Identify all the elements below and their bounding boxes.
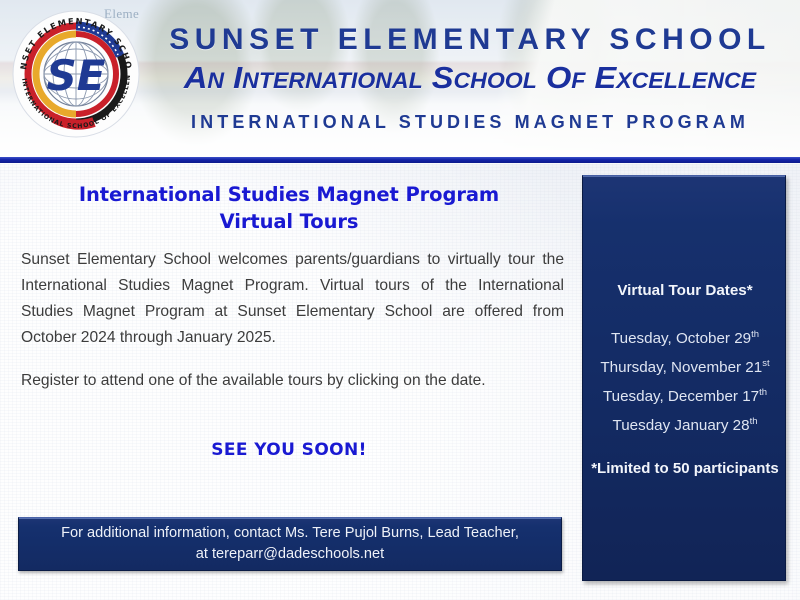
virtual-tour-dates-panel: Virtual Tour Dates* Tuesday, October 29t… <box>582 175 786 581</box>
closing-message: SEE YOU SOON! <box>14 440 564 460</box>
school-name-heading: SUNSET ELEMENTARY SCHOOL <box>140 23 800 57</box>
tour-date-label: Tuesday, December 17 <box>603 388 759 405</box>
page-title-line-1: International Studies Magnet Program <box>14 181 564 208</box>
tour-date-label: Tuesday January 28 <box>613 417 750 434</box>
tour-date-item[interactable]: Tuesday, October 29th <box>583 324 787 353</box>
tour-date-label: Tuesday, October 29 <box>611 330 751 347</box>
virtual-tour-dates-title: Virtual Tour Dates* <box>583 282 787 299</box>
virtual-tour-dates-list: Tuesday, October 29th Thursday, November… <box>583 324 787 440</box>
header-divider-rule <box>0 157 800 163</box>
tour-date-item[interactable]: Tuesday, December 17th <box>583 382 787 411</box>
participant-limit-note: *Limited to 50 participants <box>583 460 787 477</box>
body-copy: Sunset Elementary School welcomes parent… <box>21 247 564 394</box>
tour-date-item[interactable]: Thursday, November 21st <box>583 353 787 382</box>
tour-date-ordinal-suffix: st <box>762 358 769 369</box>
page-title-line-2: Virtual Tours <box>14 208 564 235</box>
body-paragraph-2: Register to attend one of the available … <box>21 368 564 394</box>
tour-date-ordinal-suffix: th <box>750 416 758 427</box>
school-tagline-heading: AN INTERNATIONAL SCHOOL OF EXCELLENCE <box>124 60 800 96</box>
body-paragraph-1: Sunset Elementary School welcomes parent… <box>21 247 564 351</box>
header-banner: Eleme Sunset <box>0 0 800 158</box>
page-title: International Studies Magnet Program Vir… <box>14 181 564 235</box>
contact-line-2[interactable]: at tereparr@dadeschools.net <box>196 546 384 562</box>
program-name-heading: INTERNATIONAL STUDIES MAGNET PROGRAM <box>140 112 800 133</box>
logo-monogram-text: SE <box>47 51 106 100</box>
contact-line-1: For additional information, contact Ms. … <box>61 525 519 541</box>
school-tagline-text: AN INTERNATIONAL SCHOOL OF EXCELLENCE <box>184 60 756 95</box>
contact-info-text: For additional information, contact Ms. … <box>61 523 519 565</box>
contact-info-box: For additional information, contact Ms. … <box>18 517 562 571</box>
tour-date-item[interactable]: Tuesday January 28th <box>583 411 787 440</box>
tour-date-ordinal-suffix: th <box>759 387 767 398</box>
banner-text-block: SUNSET ELEMENTARY SCHOOL AN INTERNATIONA… <box>140 0 800 158</box>
tour-date-ordinal-suffix: th <box>751 329 759 340</box>
flyer-page: Eleme Sunset <box>0 0 800 600</box>
tour-date-label: Thursday, November 21 <box>600 359 762 376</box>
